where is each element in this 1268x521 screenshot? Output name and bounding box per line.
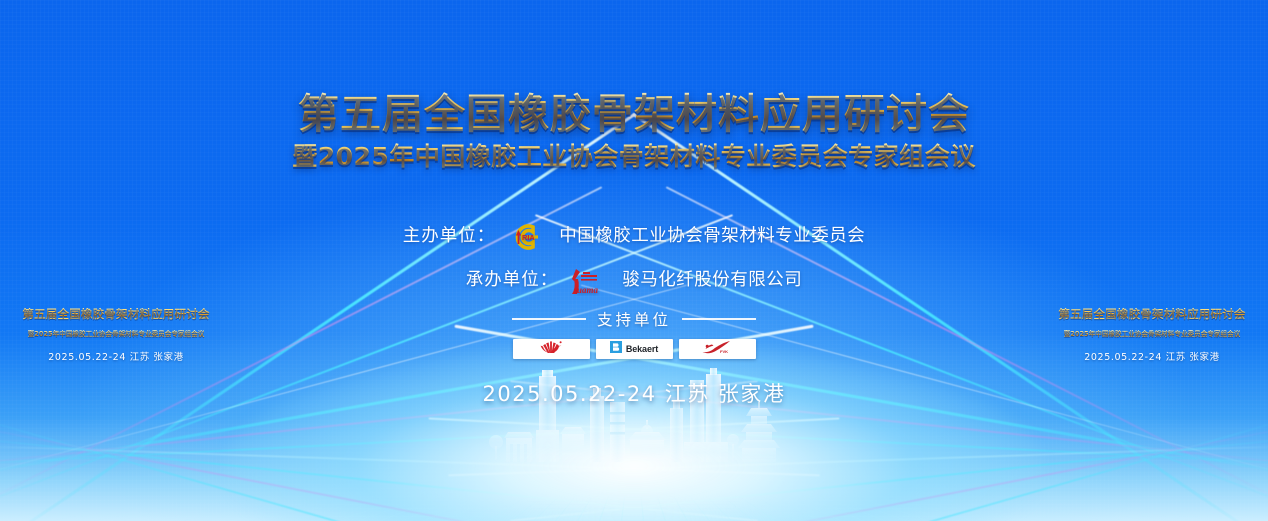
mini-title-block-left: 第五届全国橡胶骨架材料应用研讨会 暨2025年中国橡胶工业协会骨架材料专业委员会… bbox=[0, 305, 232, 363]
calligraphy-char: 创 bbox=[20, 150, 64, 203]
supporters-heading: 支持单位 bbox=[597, 308, 671, 330]
sunburst-logo bbox=[538, 340, 564, 359]
calligraphy-char: 智 bbox=[102, 91, 146, 144]
calligraphy-char: 创 bbox=[1056, 150, 1100, 203]
side-panel-left: 融 链 创 新 智 启 新 程 第五届全国橡胶骨架材料应用研讨会 暨2025年中… bbox=[0, 0, 232, 521]
svg-text:RIA: RIA bbox=[522, 233, 535, 242]
svg-text:FVK: FVK bbox=[720, 349, 728, 354]
bekaert-wordmark: Bekaert bbox=[626, 344, 658, 354]
organizer-label-organizer: 承办单位： bbox=[466, 272, 559, 290]
mini-subtitle: 暨2025年中国橡胶工业协会骨架材料专业委员会专家组会议 bbox=[1064, 330, 1241, 339]
calligraphy-char: 链 bbox=[1056, 99, 1100, 152]
mini-title: 第五届全国橡胶骨架材料应用研讨会 bbox=[1058, 307, 1245, 321]
calligraphy-left: 融 链 创 新 智 启 新 程 bbox=[0, 44, 232, 302]
calligraphy-char: 融 bbox=[20, 47, 64, 100]
calligraphy-char: 启 bbox=[102, 143, 146, 196]
calligraphy-char: 程 bbox=[1138, 245, 1182, 298]
cria-logo: RIA bbox=[497, 222, 553, 252]
calligraphy-char: 新 bbox=[1138, 194, 1182, 247]
mini-date: 2025.05.22-24 江苏 张家港 bbox=[1036, 349, 1268, 363]
divider-left bbox=[512, 318, 586, 320]
calligraphy-char: 新 bbox=[102, 194, 146, 247]
organizer-label-host: 主办单位： bbox=[403, 228, 496, 246]
page-subtitle: 暨2025年中国橡胶工业协会骨架材料专业委员会专家组会议 bbox=[292, 142, 976, 172]
bekaert-logo bbox=[610, 340, 622, 358]
poster-canvas: 第五届全国橡胶骨架材料应用研讨会 暨2025年中国橡胶工业协会骨架材料专业委员会… bbox=[0, 0, 1268, 521]
mini-date: 2025.05.22-24 江苏 张家港 bbox=[0, 349, 232, 363]
calligraphy-column-2: 智 启 新 程 bbox=[1140, 92, 1180, 297]
red-wing-logo: FVK bbox=[700, 340, 734, 359]
side-panel-right: 融 链 创 新 智 启 新 程 第五届全国橡胶骨架材料应用研讨会 暨2025年中… bbox=[1036, 0, 1268, 521]
calligraphy-column-1: 融 链 创 新 bbox=[22, 48, 62, 253]
svg-text:uama: uama bbox=[577, 285, 599, 295]
calligraphy-char: 链 bbox=[20, 99, 64, 152]
calligraphy-char: 智 bbox=[1138, 91, 1182, 144]
organizer-name-organizer: 骏马化纤股份有限公司 bbox=[622, 272, 802, 290]
calligraphy-column-2: 智 启 新 程 bbox=[104, 92, 144, 297]
organizer-name-host: 中国橡胶工业协会骨架材料专业委员会 bbox=[559, 228, 865, 246]
calligraphy-char: 新 bbox=[1056, 201, 1100, 254]
divider-right bbox=[682, 318, 756, 320]
calligraphy-char: 融 bbox=[1056, 47, 1100, 100]
mini-title-block-right: 第五届全国橡胶骨架材料应用研讨会 暨2025年中国橡胶工业协会骨架材料专业委员会… bbox=[1036, 305, 1268, 363]
calligraphy-char: 新 bbox=[20, 201, 64, 254]
mini-subtitle: 暨2025年中国橡胶工业协会骨架材料专业委员会专家组会议 bbox=[28, 330, 205, 339]
calligraphy-char: 启 bbox=[1138, 143, 1182, 196]
page-title: 第五届全国橡胶骨架材料应用研讨会 bbox=[298, 92, 970, 136]
mini-title: 第五届全国橡胶骨架材料应用研讨会 bbox=[22, 307, 209, 321]
calligraphy-char: 程 bbox=[102, 245, 146, 298]
supporter-card-2: Bekaert bbox=[596, 339, 673, 359]
junma-logo: uama bbox=[560, 266, 616, 296]
calligraphy-column-1: 融 链 创 新 bbox=[1058, 48, 1098, 253]
calligraphy-right: 融 链 创 新 智 启 新 程 bbox=[1036, 44, 1268, 302]
supporter-card-1 bbox=[513, 339, 590, 359]
supporter-card-3: FVK bbox=[679, 339, 756, 359]
